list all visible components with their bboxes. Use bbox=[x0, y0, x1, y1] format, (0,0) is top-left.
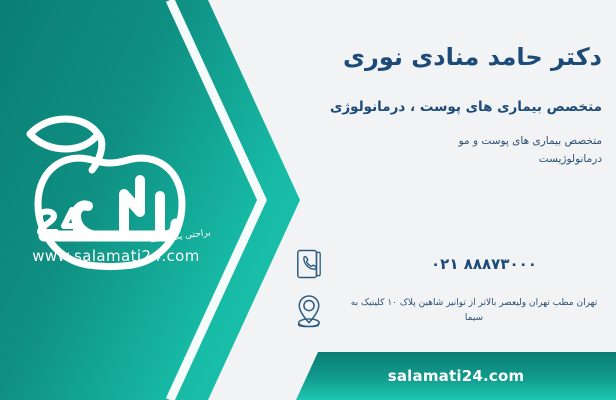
address-text: تهران مطب تهران ولیعصر بالاتر از توانیر … bbox=[338, 296, 604, 327]
doctor-name: دکتر حامد منادی نوری bbox=[302, 42, 602, 72]
footer-website: salamati24.com bbox=[388, 367, 525, 385]
phone-row[interactable]: ۸۸۸۷۳۰۰۰ ۰۲۱ bbox=[292, 245, 604, 283]
phonebook-icon bbox=[292, 245, 326, 283]
phone-number: ۸۸۸۷۳۰۰۰ ۰۲۱ bbox=[338, 255, 604, 273]
location-pin-icon bbox=[292, 292, 326, 330]
doctor-description: متخصص بیماری های پوست و مو درمانولوژیست bbox=[340, 132, 602, 169]
footer-bar[interactable]: salamati24.com bbox=[296, 352, 616, 400]
description-line-2: درمانولوژیست bbox=[340, 150, 602, 168]
logo-website: www.salamati24.com bbox=[16, 247, 216, 265]
info-column: دکتر حامد منادی نوری متخصص بیماری های پو… bbox=[286, 0, 616, 400]
description-line-1: متخصص بیماری های پوست و مو bbox=[340, 132, 602, 150]
doctor-specialty: متخصص بیماری های پوست ، درمانولوژی bbox=[302, 97, 602, 117]
address-row[interactable]: تهران مطب تهران ولیعصر بالاتر از توانیر … bbox=[292, 292, 604, 330]
business-card: براحتی یک لبخند www.salamati24.com دکتر … bbox=[0, 0, 616, 400]
